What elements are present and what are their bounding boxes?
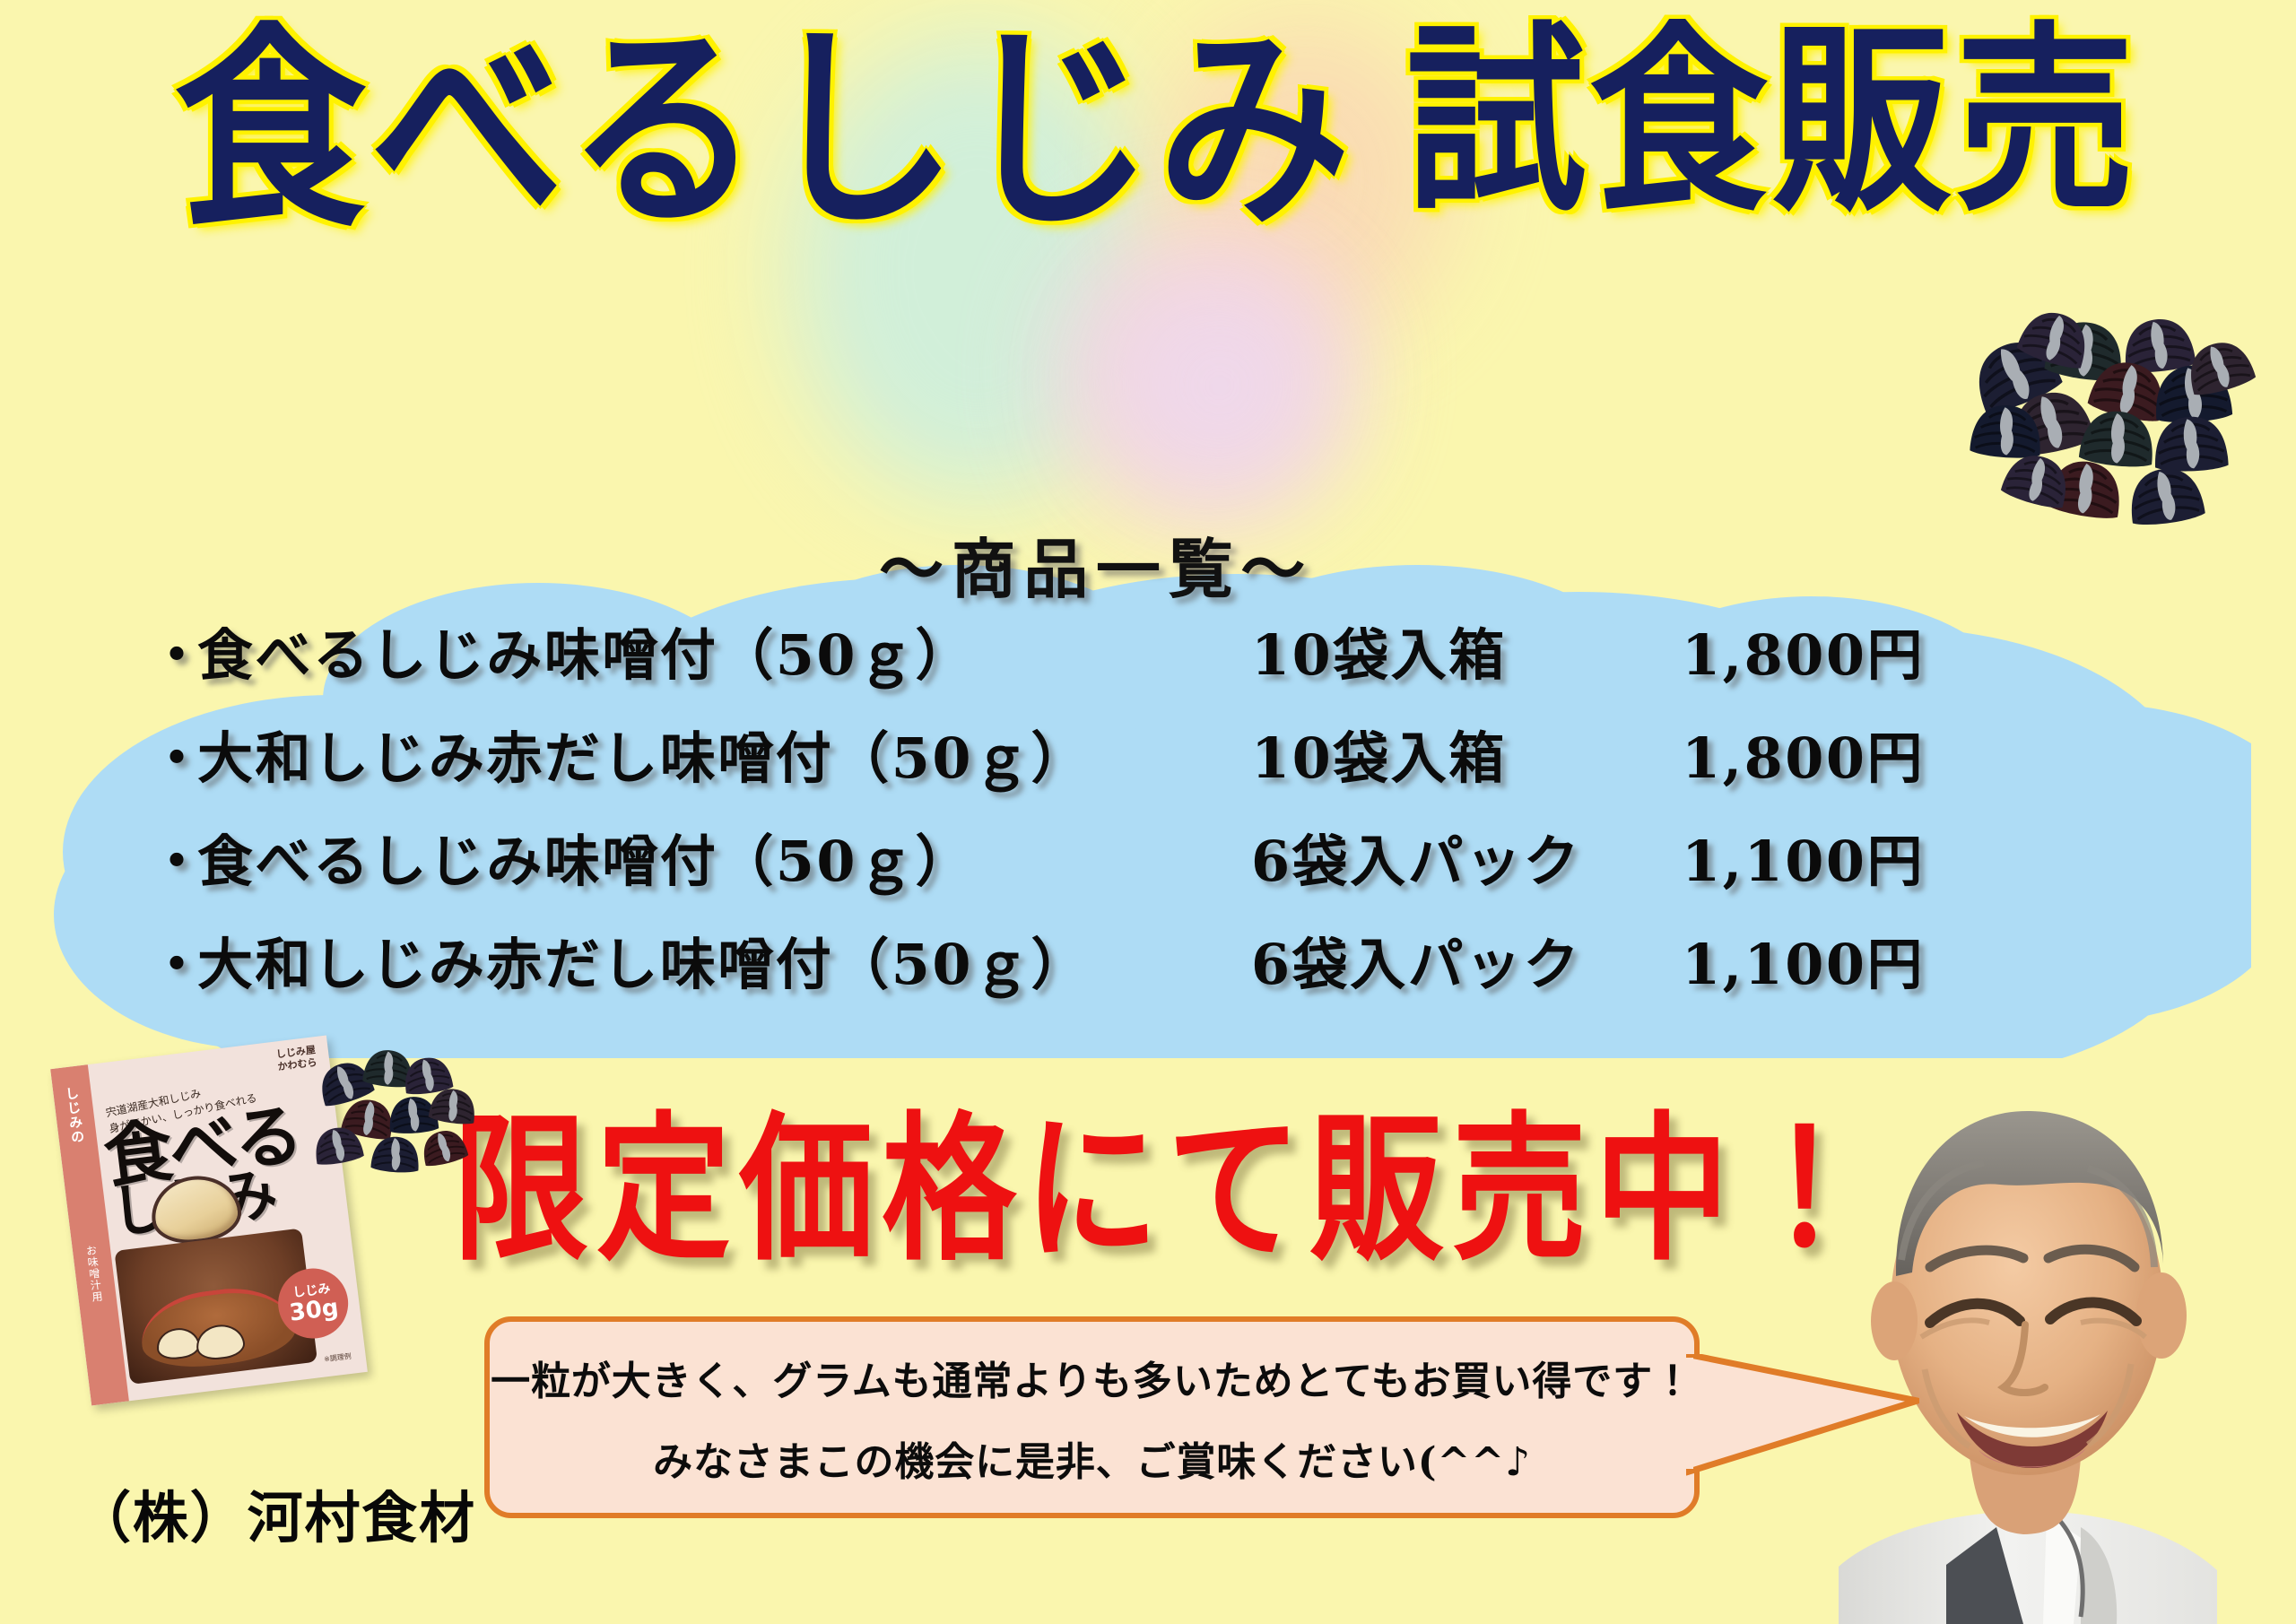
product-price: 1,800円 — [1682, 628, 2067, 683]
product-row: ・ 食べるしじみ味噌付（50ｇ） 10袋入箱 1,800円 — [0, 628, 2296, 731]
promo-headline: 限定価格にて販売中！ — [454, 1110, 1880, 1269]
poster-title: 食べるしじみ 試食販売 — [0, 16, 2296, 219]
product-bullet: ・ — [0, 834, 197, 890]
product-row: ・ 大和しじみ赤だし味噌付（50ｇ） 10袋入箱 1,800円 — [0, 731, 2296, 834]
speech-bubble-tail — [1686, 1354, 1919, 1489]
clam-shell-icon — [2126, 464, 2205, 527]
product-name: 食べるしじみ味噌付（50ｇ） — [197, 834, 1251, 890]
product-bullet: ・ — [0, 731, 197, 786]
package-photo-note: ※調理例 — [323, 1351, 352, 1365]
product-qty: 6袋入パック — [1251, 834, 1682, 890]
clam-cluster-icon — [1951, 305, 2265, 574]
speech-bubble-text: 一粒が大きく、グラムも通常よりも多いためとてもお買い得です！ みなさまこの機会に… — [484, 1316, 1700, 1518]
background-blob-pink — [1058, 224, 1354, 520]
product-row: ・ 大和しじみ赤だし味噌付（50ｇ） 6袋入パック 1,100円 — [0, 937, 2296, 1040]
product-list-heading: 〜商品一覧〜 — [879, 517, 1313, 611]
clam-cluster-icon-secondary — [309, 1042, 498, 1194]
clam-shell-icon — [2000, 448, 2074, 512]
product-qty: 6袋入パック — [1251, 937, 1682, 993]
bubble-line-2: みなさまこの機会に是非、ご賞味ください(^^♪ — [653, 1429, 1531, 1487]
product-bullet: ・ — [0, 937, 197, 993]
product-list: ・ 食べるしじみ味噌付（50ｇ） 10袋入箱 1,800円 ・ 大和しじみ赤だし… — [0, 628, 2296, 1040]
speech-bubble: 一粒が大きく、グラムも通常よりも多いためとてもお買い得です！ みなさまこの機会に… — [484, 1316, 1700, 1518]
product-qty: 10袋入箱 — [1251, 731, 1682, 786]
clam-shell-icon — [419, 1126, 469, 1168]
bubble-line-1: 一粒が大きく、グラムも通常よりも多いためとてもお買い得です！ — [491, 1349, 1693, 1406]
badge-weight: 30g — [288, 1296, 340, 1324]
product-name: 食べるしじみ味噌付（50ｇ） — [197, 628, 1251, 683]
product-qty: 10袋入箱 — [1251, 628, 1682, 683]
clam-shell-icon — [2182, 335, 2257, 399]
product-name: 大和しじみ赤だし味噌付（50ｇ） — [197, 731, 1251, 786]
poster-canvas: 食べるしじみ 試食販売 〜商品一覧〜 ・ 食べるしじみ味噌付（50ｇ） 10袋入… — [0, 0, 2296, 1624]
background-blob-lavender — [1103, 269, 1336, 502]
title-left-text: 食べるしじみ — [174, 16, 1354, 243]
background-blob-peach — [1157, 18, 1453, 341]
clam-shell-icon — [2153, 415, 2229, 472]
package-side-label: しじみの — [62, 1085, 88, 1145]
product-price: 1,800円 — [1682, 731, 2067, 786]
product-bullet: ・ — [0, 628, 197, 683]
title-right-text: 試食販売 — [1406, 16, 2138, 227]
product-price: 1,100円 — [1682, 834, 2067, 890]
package-side-label-2: お味噌汁用 — [83, 1244, 106, 1303]
product-price: 1,100円 — [1682, 937, 2067, 993]
clam-shell-icon — [370, 1135, 421, 1174]
company-name: （株）河村食材 — [75, 1472, 476, 1553]
product-row: ・ 食べるしじみ味噌付（50ｇ） 6袋入パック 1,100円 — [0, 834, 2296, 937]
background-blob-mint — [789, 36, 1166, 502]
product-name: 大和しじみ赤だし味噌付（50ｇ） — [197, 937, 1251, 993]
